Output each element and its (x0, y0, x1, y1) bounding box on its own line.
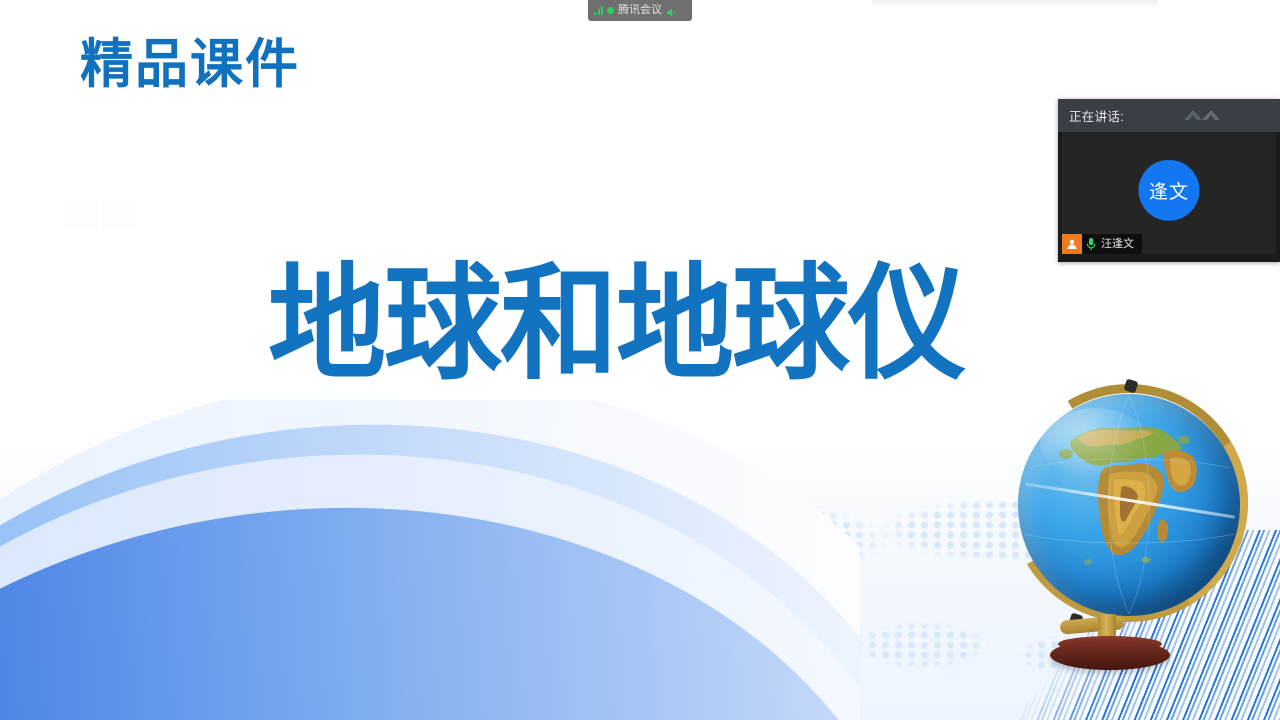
globe-wooden-base (1050, 640, 1170, 670)
tencent-meeting-app-label: 腾讯会议 (618, 5, 662, 16)
placeholder-block (102, 201, 136, 230)
speaker-icon[interactable] (666, 5, 677, 16)
participant-nametag: 汪逢文 (1062, 234, 1142, 254)
video-panel-footer (1058, 254, 1280, 262)
globe-glossy-highlight (1040, 408, 1150, 478)
slide-badge-label: 精品课件 (80, 38, 300, 91)
speaking-now-label: 正在讲话: (1069, 106, 1124, 125)
presentation-screen: 精品课件 地球和地球仪 (0, 0, 1280, 720)
wave-decoration-group (0, 400, 860, 720)
floating-toolbar-edge[interactable] (872, 0, 1158, 7)
video-panel-header[interactable]: 正在讲话: (1058, 99, 1280, 132)
globe-illustration (1002, 382, 1280, 672)
host-person-icon (1062, 234, 1082, 254)
signal-bars-icon (594, 6, 603, 15)
globe-sphere (1018, 394, 1240, 616)
video-panel-body[interactable]: 逢文 汪逢文 (1062, 133, 1276, 254)
participant-name-label: 汪逢文 (1101, 239, 1134, 250)
participant-avatar: 逢文 (1139, 159, 1200, 220)
tencent-meeting-taskbar-pill[interactable]: 腾讯会议 (588, 0, 692, 21)
microphone-icon[interactable] (1082, 234, 1099, 254)
tencent-meeting-logo-icon (1182, 107, 1226, 124)
faint-placeholder-blocks (64, 201, 136, 230)
slide-main-title: 地球和地球仪 (268, 262, 964, 387)
green-status-dot-icon (607, 7, 614, 14)
video-call-floating-panel[interactable]: 正在讲话: 逢文 (1058, 99, 1280, 262)
placeholder-block (64, 201, 98, 230)
